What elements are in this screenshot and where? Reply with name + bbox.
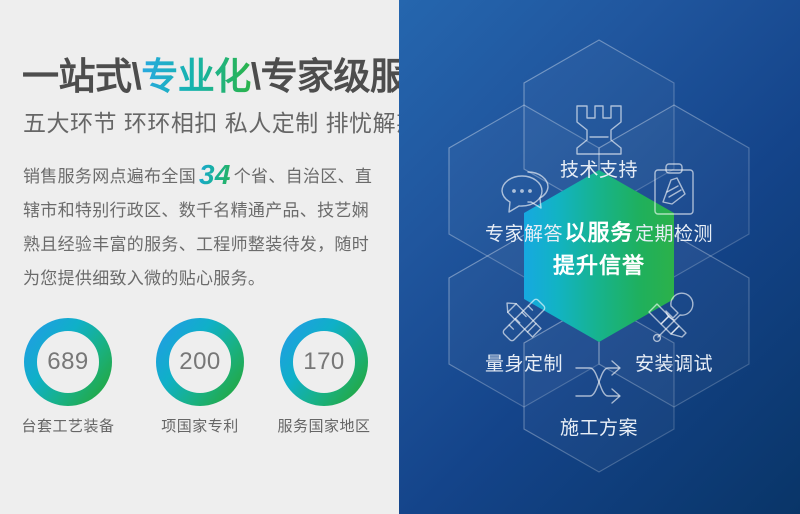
donut-ring-patents: 200 bbox=[156, 318, 244, 406]
page-title: 一站式\专业化\专家级服务 bbox=[22, 55, 392, 99]
hex-label-tech-support: 技术支持 bbox=[560, 159, 638, 181]
stat-label: 台套工艺装备 bbox=[8, 415, 128, 436]
stat-label: 服务国家地区 bbox=[264, 415, 384, 436]
donut-ring-regions: 170 bbox=[280, 318, 368, 406]
title-segment-2-highlight: 专业化 bbox=[141, 56, 251, 97]
province-count-highlight: 34 bbox=[196, 159, 234, 190]
stats-row: 689 台套工艺装备 bbox=[0, 318, 399, 438]
stat-label: 项国家专利 bbox=[140, 415, 260, 436]
stat-item-equipment: 689 台套工艺装备 bbox=[8, 318, 128, 436]
left-info-panel: 一站式\专业化\专家级服务 五大环节 环环相扣 私人定制 排忧解惑 销售服务网点… bbox=[0, 0, 399, 514]
hex-label-periodic-check: 定期检测 bbox=[635, 223, 713, 245]
stat-item-regions: 170 服务国家地区 bbox=[264, 318, 384, 436]
hex-label-expert-answer: 专家解答 bbox=[485, 223, 563, 245]
donut-ring-equipment: 689 bbox=[24, 318, 112, 406]
description-text-before: 销售服务网点遍布全国 bbox=[23, 167, 196, 186]
stat-value: 170 bbox=[280, 318, 368, 406]
center-label-line1: 以服务 bbox=[564, 220, 633, 245]
title-segment-1: 一站式 bbox=[22, 56, 132, 97]
promo-banner: 一站式\专业化\专家级服务 五大环节 环环相扣 私人定制 排忧解惑 销售服务网点… bbox=[0, 0, 800, 514]
page-subtitle: 五大环节 环环相扣 私人定制 排忧解惑 bbox=[23, 104, 393, 138]
title-slash-2: \ bbox=[251, 56, 261, 97]
stat-value: 200 bbox=[156, 318, 244, 406]
hexagon-diagram-panel: 以服务 提升信誉 bbox=[399, 0, 800, 514]
hex-label-custom-tailored: 量身定制 bbox=[485, 353, 563, 375]
center-label-line2: 提升信誉 bbox=[553, 253, 645, 278]
stat-value: 689 bbox=[24, 318, 112, 406]
hex-label-install-debug: 安装调试 bbox=[635, 353, 713, 375]
stat-item-patents: 200 项国家专利 bbox=[140, 318, 260, 436]
title-slash-1: \ bbox=[132, 56, 142, 97]
hex-label-construction-plan: 施工方案 bbox=[560, 417, 638, 439]
description-paragraph: 销售服务网点遍布全国34个省、自治区、直辖市和特别行政区、数千名精通产品、技艺娴… bbox=[23, 158, 383, 296]
